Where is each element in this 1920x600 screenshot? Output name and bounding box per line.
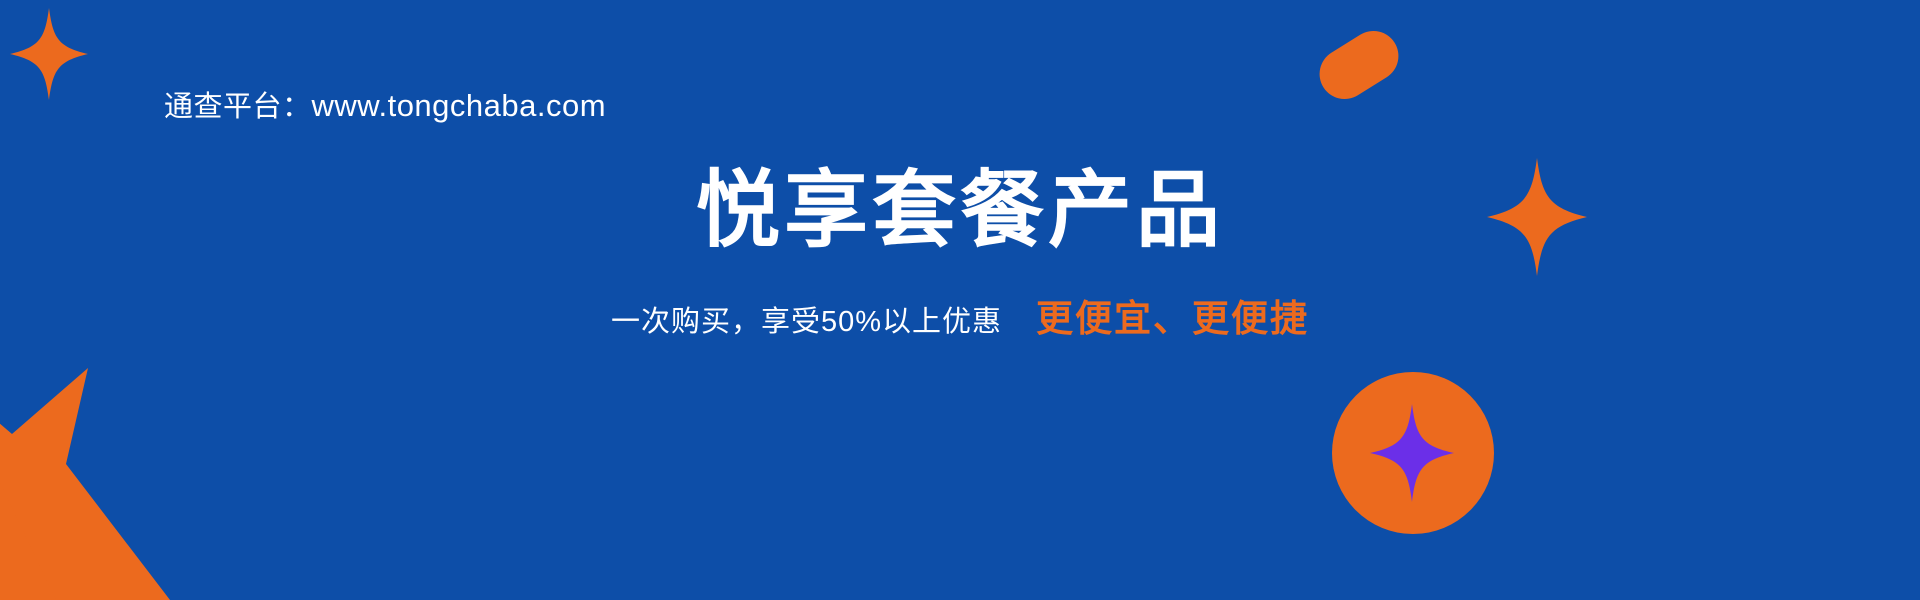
subtitle-plain-text: 一次购买，享受50%以上优惠 bbox=[611, 306, 1002, 338]
text-layer: 通查平台：www.tongchaba.com 悦享套餐产品 一次购买，享受50%… bbox=[0, 0, 1920, 600]
promo-banner: 通查平台：www.tongchaba.com 悦享套餐产品 一次购买，享受50%… bbox=[0, 0, 1920, 600]
platform-url-line: 通查平台：www.tongchaba.com bbox=[164, 84, 606, 129]
platform-label: 通查平台： bbox=[164, 91, 312, 123]
page-title: 悦享套餐产品 bbox=[0, 158, 1920, 262]
platform-url: www.tongchaba.com bbox=[312, 88, 607, 123]
subtitle-highlight-text: 更便宜、更便捷 bbox=[1036, 298, 1309, 339]
subtitle-line: 一次购买，享受50%以上优惠更便宜、更便捷 bbox=[0, 292, 1920, 354]
